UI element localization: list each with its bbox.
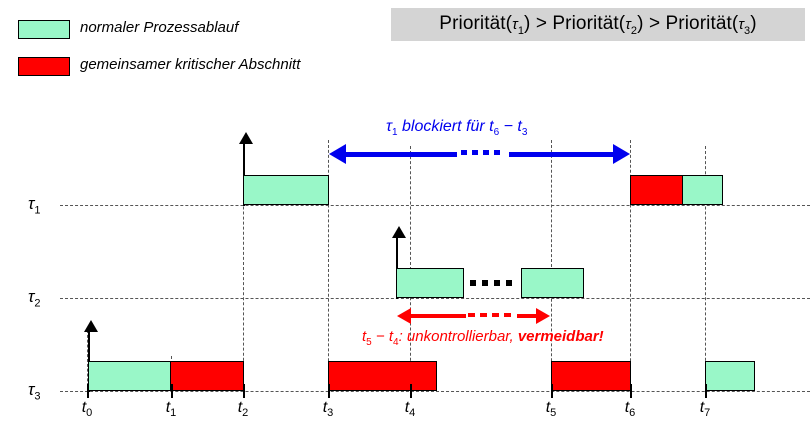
row-label-tau2-sub: 2 (34, 297, 40, 309)
tick-label-t1: t1 (151, 399, 191, 419)
gridline-t5 (551, 140, 552, 391)
legend-label-critical: gemeinsamer kritischer Abschnitt (80, 56, 300, 73)
annotation-uncontrollable-arrowhead-left (397, 308, 411, 324)
annotation-uncontrollable-line-left (410, 314, 466, 318)
annotation-uncontrollable-dots (468, 313, 511, 317)
tick-t4 (410, 384, 412, 398)
tick-t3 (328, 384, 330, 398)
bar-tau3-normal-t0-t1 (88, 361, 171, 391)
annotation-uncontrollable-text: t5 − t4: unkontrollierbar, vermeidbar! (362, 328, 604, 348)
annotation-blocking-text: τ1 blockiert für t6 − t3 (386, 118, 527, 138)
tick-t0 (87, 384, 89, 398)
priority-banner: Priorität(τ1) > Priorität(τ2) > Prioritä… (391, 8, 805, 41)
tick-label-t3: t3 (308, 399, 348, 419)
priority-text-part-4: ) (750, 13, 756, 34)
tick-label-t1-sub: 1 (170, 407, 176, 419)
annotation-blocking-dash: − (499, 118, 517, 135)
bar-tau2-normal-part2 (521, 268, 584, 298)
tick-label-t7-sub: 7 (704, 407, 710, 419)
tick-t1 (171, 384, 173, 398)
annotation-blocking-tb-sub: 3 (522, 127, 528, 138)
bar-tau1-critical-t6 (630, 175, 683, 205)
baseline-tau1 (60, 205, 810, 206)
row-label-tau1: τ1 (28, 194, 40, 216)
row-label-tau3-sub: 3 (34, 390, 40, 402)
bar-tau3-critical-t3-t4 (328, 361, 437, 391)
tick-label-t5: t5 (531, 399, 571, 419)
tick-label-t2: t2 (223, 399, 263, 419)
priority-text-part-1: Priorität( (439, 13, 512, 34)
tick-label-t2-sub: 2 (242, 407, 248, 419)
tick-t6 (630, 384, 632, 398)
priority-text-part-2: ) > Priorität( (524, 13, 625, 34)
annotation-blocking-line-right (509, 152, 614, 157)
tick-label-t4-sub: 4 (409, 407, 415, 419)
annotation-blocking-arrowhead-right (613, 144, 630, 164)
tick-label-t6: t6 (610, 399, 650, 419)
tick-t7 (705, 384, 707, 398)
annotation-uncontrollable-bold: vermeidbar! (518, 328, 604, 345)
priority-banner-text: Priorität(τ1) > Priorität(τ2) > Prioritä… (439, 13, 756, 37)
tick-label-t0-sub: 0 (86, 407, 92, 419)
annotation-uncontrollable-dash: − (372, 328, 389, 345)
row-label-tau2: τ2 (28, 287, 40, 309)
tick-label-t4: t4 (390, 399, 430, 419)
annotation-blocking-arrowhead-left (329, 144, 346, 164)
bar-tau3-critical-t5-t6 (551, 361, 631, 391)
legend-label-normal: normaler Prozessablauf (80, 19, 238, 36)
annotation-uncontrollable-arrowhead-right (536, 308, 550, 324)
legend-swatch-normal (18, 20, 70, 39)
tick-label-t5-sub: 5 (550, 407, 556, 419)
baseline-tau2 (60, 298, 810, 299)
bar-tau1-normal-t2-t3 (243, 175, 329, 205)
tick-t5 (551, 384, 553, 398)
bar-tau1-normal-t7 (683, 175, 723, 205)
tick-label-t7: t7 (685, 399, 725, 419)
continuation-dots-tau2 (470, 268, 512, 298)
tick-label-t6-sub: 6 (629, 407, 635, 419)
tick-label-t0: t0 (67, 399, 107, 419)
row-label-tau1-sub: 1 (34, 204, 40, 216)
tick-label-t3-sub: 3 (327, 407, 333, 419)
annotation-uncontrollable-line-right (517, 314, 537, 318)
legend-swatch-critical (18, 57, 70, 76)
bar-tau2-normal-part1 (396, 268, 464, 298)
annotation-uncontrollable-mid: : unkontrollierbar, (399, 328, 518, 345)
annotation-blocking-line-left (345, 152, 457, 157)
annotation-blocking-mid: blockiert für (398, 118, 490, 135)
priority-text-part-3: ) > Priorität( (637, 13, 738, 34)
bar-tau3-critical-t1-t2 (171, 361, 244, 391)
bar-tau3-normal-t7 (705, 361, 755, 391)
tick-t2 (243, 384, 245, 398)
annotation-blocking-dots (461, 150, 500, 155)
row-label-tau3: τ3 (28, 380, 40, 402)
